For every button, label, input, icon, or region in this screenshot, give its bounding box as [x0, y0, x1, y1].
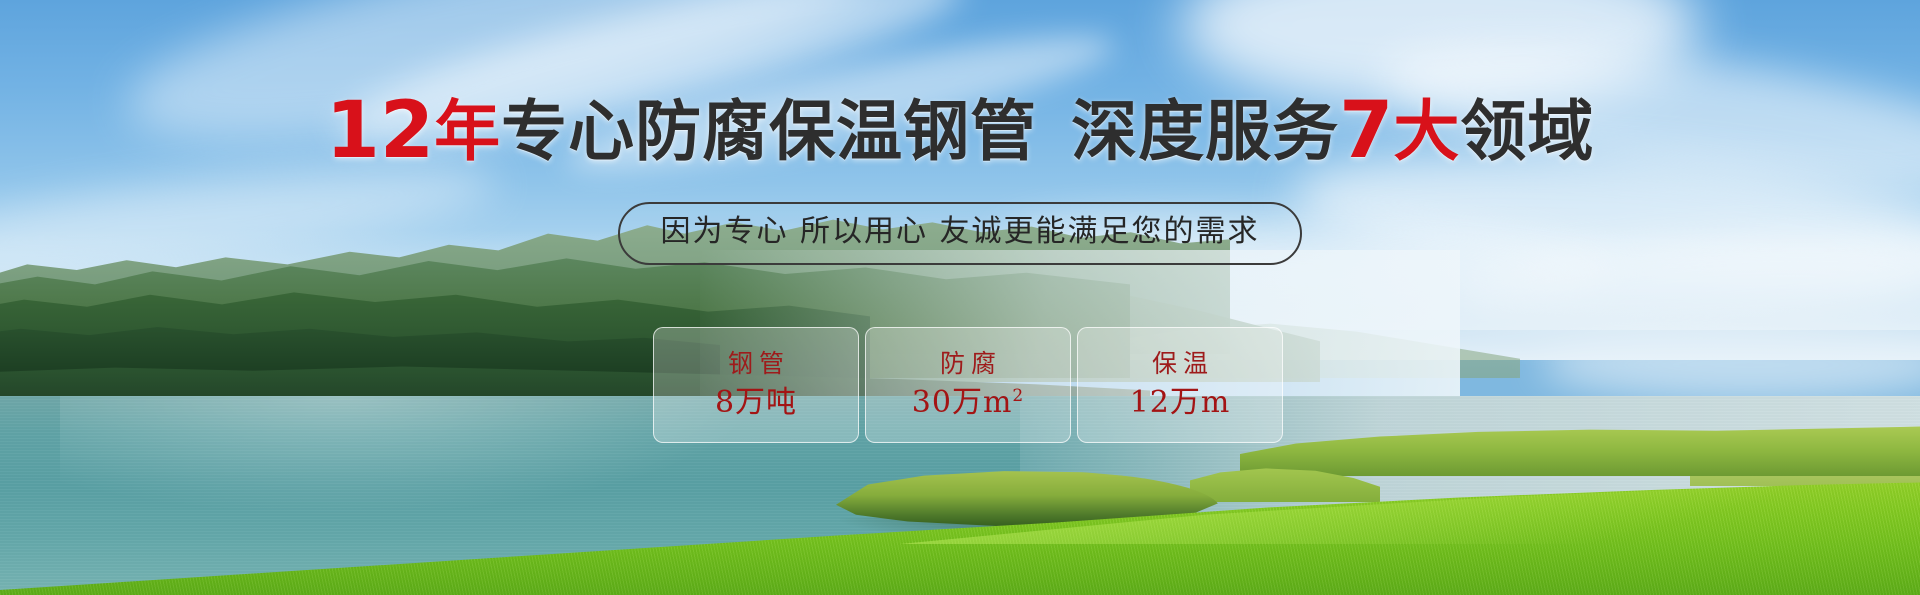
promo-banner: 12年专心防腐保温钢管深度服务7大领域 因为专心 所以用心 友诚更能满足您的需求… [0, 0, 1920, 595]
headline-phrase-one: 专心防腐保温钢管 [501, 93, 1037, 170]
headline-fields-number: 7 [1339, 86, 1393, 176]
stat-card-value: 12万m [1130, 388, 1231, 418]
banner-subtitle-wrapper: 因为专心 所以用心 友诚更能满足您的需求 [0, 202, 1920, 265]
banner-subtitle-pill: 因为专心 所以用心 友诚更能满足您的需求 [618, 202, 1301, 265]
headline-phrase-two: 深度服务 [1071, 93, 1339, 170]
headline-fields-unit: 大 [1393, 93, 1460, 170]
stat-card-title: 保温 [1146, 351, 1214, 376]
stat-card-value-superscript: 2 [1012, 386, 1024, 406]
stat-card-value: 30万m2 [912, 388, 1024, 418]
stat-card-value-text: 30万m [912, 385, 1013, 420]
stat-card-value-text: 12万m [1130, 385, 1231, 420]
headline-phrase-three: 领域 [1460, 93, 1594, 170]
stat-card-title: 钢管 [722, 351, 790, 376]
stat-card-list: 钢管 8万吨 防腐 30万m2 保温 12万m [653, 327, 1283, 443]
stat-card-value: 8万吨 [715, 388, 797, 418]
stat-card[interactable]: 保温 12万m [1077, 327, 1283, 443]
banner-headline: 12年专心防腐保温钢管深度服务7大领域 [0, 92, 1920, 170]
stat-card-value-text: 8万吨 [715, 385, 797, 420]
banner-content: 12年专心防腐保温钢管深度服务7大领域 因为专心 所以用心 友诚更能满足您的需求… [0, 0, 1920, 595]
stat-card-title: 防腐 [934, 351, 1002, 376]
stat-card[interactable]: 钢管 8万吨 [653, 327, 859, 443]
headline-years-unit: 年 [434, 93, 501, 170]
stat-card[interactable]: 防腐 30万m2 [865, 327, 1071, 443]
headline-years-number: 12 [326, 86, 435, 176]
